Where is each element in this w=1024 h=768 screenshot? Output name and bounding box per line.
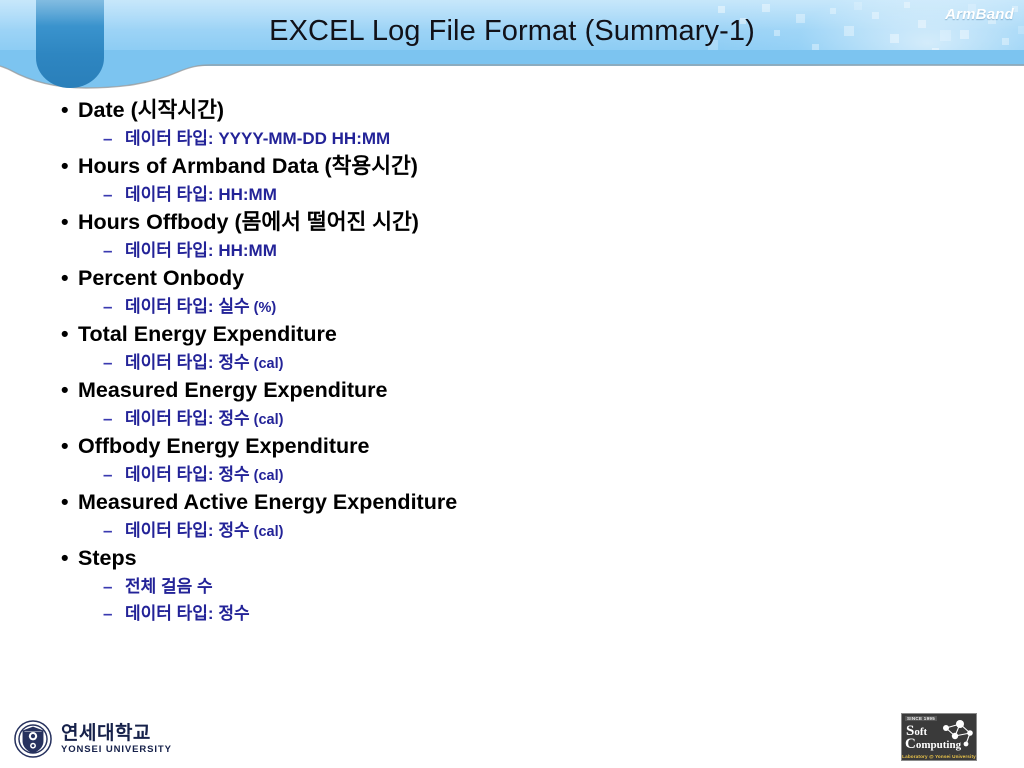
sub-bullet-dash-icon: – <box>103 405 112 432</box>
bullet-dot-icon: • <box>61 96 69 125</box>
bullet-dot-icon: • <box>61 152 69 181</box>
bullet-label: Total Energy Expenditure <box>78 322 337 346</box>
sub-bullet-value: 정수 <box>218 465 249 484</box>
bullet-dot-icon: • <box>61 320 69 349</box>
bullet-label: Percent Onbody <box>78 266 244 290</box>
bullet-item: •Hours Offbody (몸에서 떨어진 시간) <box>0 208 1024 237</box>
sub-bullet-value: YYYY-MM-DD HH:MM <box>218 129 390 148</box>
bullet-group: •Measured Active Energy Expenditure–데이터 … <box>0 488 1024 544</box>
bullet-dot-icon: • <box>61 488 69 517</box>
sub-bullet-item: –전체 걸음 수 <box>0 573 1024 600</box>
sub-bullet-item: –데이터 타입: 정수 (cal) <box>0 517 1024 544</box>
sub-bullet-unit: (cal) <box>250 524 284 540</box>
sub-bullet-unit: (cal) <box>250 356 284 372</box>
sub-bullet-prefix: 데이터 타입: <box>125 297 218 316</box>
sub-bullet-dash-icon: – <box>103 600 112 627</box>
sub-bullet-value: 실수 <box>218 297 249 316</box>
bullet-group: •Percent Onbody–데이터 타입: 실수 (%) <box>0 264 1024 320</box>
sub-bullet-prefix: 데이터 타입: <box>125 129 218 148</box>
sub-bullet-unit: (cal) <box>250 468 284 484</box>
yonsei-logo-text: 연세대학교 YONSEI UNIVERSITY <box>61 724 172 755</box>
bullet-item: •Steps <box>0 544 1024 573</box>
sub-bullet-dash-icon: – <box>103 293 112 320</box>
sub-bullet-item: –데이터 타입: 실수 (%) <box>0 293 1024 320</box>
sub-bullet-value: HH:MM <box>218 241 277 260</box>
bullet-label: Hours of Armband Data (착용시간) <box>78 154 418 178</box>
sub-bullet-prefix: 데이터 타입: <box>125 185 218 204</box>
soft-computing-line2-rest: omputing <box>916 739 961 751</box>
sub-bullet-value: 정수 <box>218 409 249 428</box>
bullet-item: •Measured Active Energy Expenditure <box>0 488 1024 517</box>
sub-bullet-item: –데이터 타입: YYYY-MM-DD HH:MM <box>0 125 1024 152</box>
page-title: EXCEL Log File Format (Summary-1) <box>0 12 1024 50</box>
sub-bullet-prefix: 데이터 타입: <box>125 604 218 623</box>
sub-bullet-prefix: 데이터 타입: <box>125 465 218 484</box>
bullet-item: •Percent Onbody <box>0 264 1024 293</box>
bullet-list: •Date (시작시간)–데이터 타입: YYYY-MM-DD HH:MM•Ho… <box>0 96 1024 627</box>
bullet-item: •Measured Energy Expenditure <box>0 376 1024 405</box>
bullet-label: Date (시작시간) <box>78 98 224 122</box>
bullet-label: Steps <box>78 546 137 570</box>
sub-bullet-dash-icon: – <box>103 517 112 544</box>
sub-bullet-value: 정수 <box>218 521 249 540</box>
bullet-label: Hours Offbody (몸에서 떨어진 시간) <box>78 210 419 234</box>
sub-bullet-dash-icon: – <box>103 125 112 152</box>
brand-label: ArmBand <box>945 6 1014 23</box>
sub-bullet-value: HH:MM <box>218 185 277 204</box>
sub-bullet-item: –데이터 타입: 정수 (cal) <box>0 405 1024 432</box>
sub-bullet-prefix: 데이터 타입: <box>125 521 218 540</box>
bullet-dot-icon: • <box>61 432 69 461</box>
header-bottom-curve <box>0 50 1024 96</box>
header-accent-tab <box>36 0 104 88</box>
bullet-group: •Hours Offbody (몸에서 떨어진 시간)–데이터 타입: HH:M… <box>0 208 1024 264</box>
sub-bullet-prefix: 데이터 타입: <box>125 241 218 260</box>
sub-bullet-prefix: 전체 걸음 수 <box>125 577 213 596</box>
sub-bullet-prefix: 데이터 타입: <box>125 353 218 372</box>
soft-computing-line2-cap: C <box>905 736 916 752</box>
sub-bullet-value: 정수 <box>218 604 249 623</box>
yonsei-shield-emblem-icon <box>14 720 52 758</box>
sub-bullet-dash-icon: – <box>103 349 112 376</box>
yonsei-logo: 연세대학교 YONSEI UNIVERSITY <box>14 717 172 761</box>
bullet-group: •Offbody Energy Expenditure–데이터 타입: 정수 (… <box>0 432 1024 488</box>
sub-bullet-dash-icon: – <box>103 573 112 600</box>
bullet-item: •Total Energy Expenditure <box>0 320 1024 349</box>
sub-bullet-item: –데이터 타입: 정수 (cal) <box>0 349 1024 376</box>
sub-bullet-value: 정수 <box>218 353 249 372</box>
sub-bullet-unit: (cal) <box>250 412 284 428</box>
bullet-group: •Hours of Armband Data (착용시간)–데이터 타입: HH… <box>0 152 1024 208</box>
sub-bullet-dash-icon: – <box>103 237 112 264</box>
sub-bullet-item: –데이터 타입: HH:MM <box>0 237 1024 264</box>
slide-root: EXCEL Log File Format (Summary-1) ArmBan… <box>0 0 1024 768</box>
soft-computing-lab-caption: Laboratory @ Yonsei University <box>902 754 976 759</box>
bullet-group: •Total Energy Expenditure–데이터 타입: 정수 (ca… <box>0 320 1024 376</box>
bullet-label: Measured Active Energy Expenditure <box>78 490 457 514</box>
bullet-label: Measured Energy Expenditure <box>78 378 387 402</box>
bullet-dot-icon: • <box>61 264 69 293</box>
yonsei-name-english: YONSEI UNIVERSITY <box>61 745 172 755</box>
bullet-group: •Date (시작시간)–데이터 타입: YYYY-MM-DD HH:MM <box>0 96 1024 152</box>
sub-bullet-prefix: 데이터 타입: <box>125 409 218 428</box>
sub-bullet-item: –데이터 타입: 정수 (cal) <box>0 461 1024 488</box>
bullet-item: •Date (시작시간) <box>0 96 1024 125</box>
sub-bullet-item: –데이터 타입: HH:MM <box>0 181 1024 208</box>
sub-bullet-dash-icon: – <box>103 181 112 208</box>
soft-computing-lab-logo: SINCE 1995 Soft Computing <box>901 713 977 761</box>
bullet-dot-icon: • <box>61 376 69 405</box>
soft-computing-since-label: SINCE 1995 <box>905 716 937 721</box>
soft-computing-line2: Computing <box>905 736 961 753</box>
sub-bullet-item: –데이터 타입: 정수 <box>0 600 1024 627</box>
bullet-dot-icon: • <box>61 544 69 573</box>
sub-bullet-unit: (%) <box>250 300 277 316</box>
bullet-item: •Hours of Armband Data (착용시간) <box>0 152 1024 181</box>
bullet-dot-icon: • <box>61 208 69 237</box>
yonsei-name-korean: 연세대학교 <box>61 724 172 743</box>
bullet-item: •Offbody Energy Expenditure <box>0 432 1024 461</box>
bullet-group: •Steps–전체 걸음 수–데이터 타입: 정수 <box>0 544 1024 627</box>
bullet-label: Offbody Energy Expenditure <box>78 434 369 458</box>
sub-bullet-dash-icon: – <box>103 461 112 488</box>
bullet-group: •Measured Energy Expenditure–데이터 타입: 정수 … <box>0 376 1024 432</box>
